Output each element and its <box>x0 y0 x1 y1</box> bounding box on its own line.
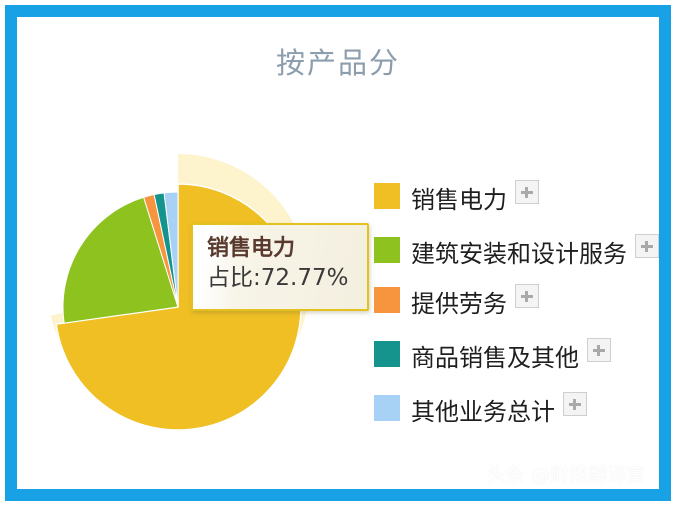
legend-item-body: 提供劳务 <box>411 284 659 320</box>
expand-plus-icon[interactable] <box>515 284 539 308</box>
legend-item[interactable]: 其他业务总计 <box>374 392 659 428</box>
pie-tooltip: 销售电力 占比:72.77% <box>191 223 369 311</box>
legend-color-swatch <box>374 287 400 313</box>
expand-plus-icon[interactable] <box>635 234 659 258</box>
legend-item-body: 商品销售及其他 <box>411 338 659 374</box>
legend-item[interactable]: 提供劳务 <box>374 284 659 320</box>
legend-item-label: 其他业务总计 <box>411 398 555 426</box>
chart-card-frame: 按产品分 销售电力 占比:72.77% 销售电力建筑安装和设计服务提供劳务商品销… <box>5 5 671 501</box>
watermark-text: 头条 @财报翻译官 <box>487 463 645 487</box>
expand-plus-icon[interactable] <box>587 338 611 362</box>
legend-item[interactable]: 建筑安装和设计服务 <box>374 234 659 270</box>
legend-item-body: 建筑安装和设计服务 <box>411 234 659 270</box>
legend-color-swatch <box>374 237 400 263</box>
chart-legend: 销售电力建筑安装和设计服务提供劳务商品销售及其他其他业务总计 <box>374 180 659 444</box>
legend-color-swatch <box>374 183 400 209</box>
legend-item-body: 其他业务总计 <box>411 392 659 428</box>
expand-plus-icon[interactable] <box>563 392 587 416</box>
legend-item-label: 销售电力 <box>411 186 507 214</box>
legend-item-label: 建筑安装和设计服务 <box>411 240 627 268</box>
legend-item-body: 销售电力 <box>411 180 659 216</box>
chart-surface: 按产品分 销售电力 占比:72.77% 销售电力建筑安装和设计服务提供劳务商品销… <box>17 17 659 489</box>
legend-item[interactable]: 销售电力 <box>374 180 659 216</box>
tooltip-series-name: 销售电力 <box>207 235 367 263</box>
tooltip-value: 占比:72.77% <box>207 263 367 293</box>
legend-color-swatch <box>374 341 400 367</box>
expand-plus-icon[interactable] <box>515 180 539 204</box>
legend-item[interactable]: 商品销售及其他 <box>374 338 659 374</box>
legend-color-swatch <box>374 395 400 421</box>
legend-item-label: 商品销售及其他 <box>411 344 579 372</box>
legend-item-label: 提供劳务 <box>411 290 507 318</box>
page-title: 按产品分 <box>17 45 659 81</box>
